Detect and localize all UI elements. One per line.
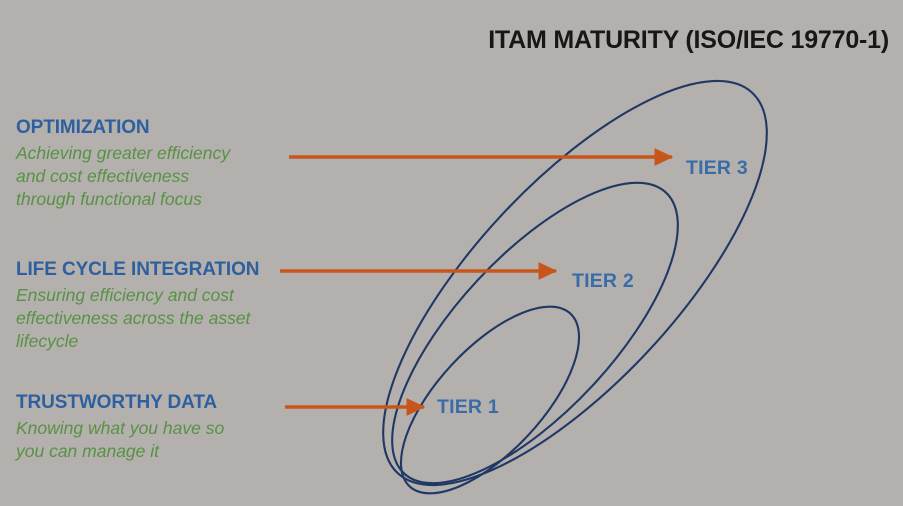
level-heading: LIFE CYCLE INTEGRATION	[16, 259, 259, 281]
level-description-line: Achieving greater efficiency	[16, 142, 230, 165]
level-description: Knowing what you have so you can manage …	[16, 417, 224, 464]
tier-3-label: TIER 3	[686, 157, 748, 180]
maturity-level-trustworthy-data: TRUSTWORTHY DATA Knowing what you have s…	[16, 392, 224, 463]
level-description-line: effectiveness across the asset	[16, 307, 259, 330]
level-description-line: and cost effectiveness	[16, 165, 230, 188]
level-description-line: Knowing what you have so	[16, 417, 224, 440]
level-description: Achieving greater efficiency and cost ef…	[16, 142, 230, 212]
level-description-line: Ensuring efficiency and cost	[16, 284, 259, 307]
level-heading: TRUSTWORTHY DATA	[16, 392, 224, 414]
tier-1-label: TIER 1	[437, 396, 499, 419]
level-description: Ensuring efficiency and cost effectivene…	[16, 284, 259, 354]
tier-3-ellipse	[325, 25, 826, 506]
level-description-line: you can manage it	[16, 440, 224, 463]
level-description-line: through functional focus	[16, 188, 230, 211]
level-heading: OPTIMIZATION	[16, 117, 230, 139]
tier-2-label: TIER 2	[572, 270, 634, 293]
level-description-line: lifecycle	[16, 330, 259, 353]
tier-2-ellipse	[347, 139, 723, 506]
slide-canvas: ITAM MATURITY (ISO/IEC 19770-1) OPTIMIZA…	[0, 0, 903, 506]
maturity-level-life-cycle-integration: LIFE CYCLE INTEGRATION Ensuring efficien…	[16, 259, 259, 354]
maturity-level-optimization: OPTIMIZATION Achieving greater efficienc…	[16, 117, 230, 212]
ellipse-group	[325, 25, 826, 506]
